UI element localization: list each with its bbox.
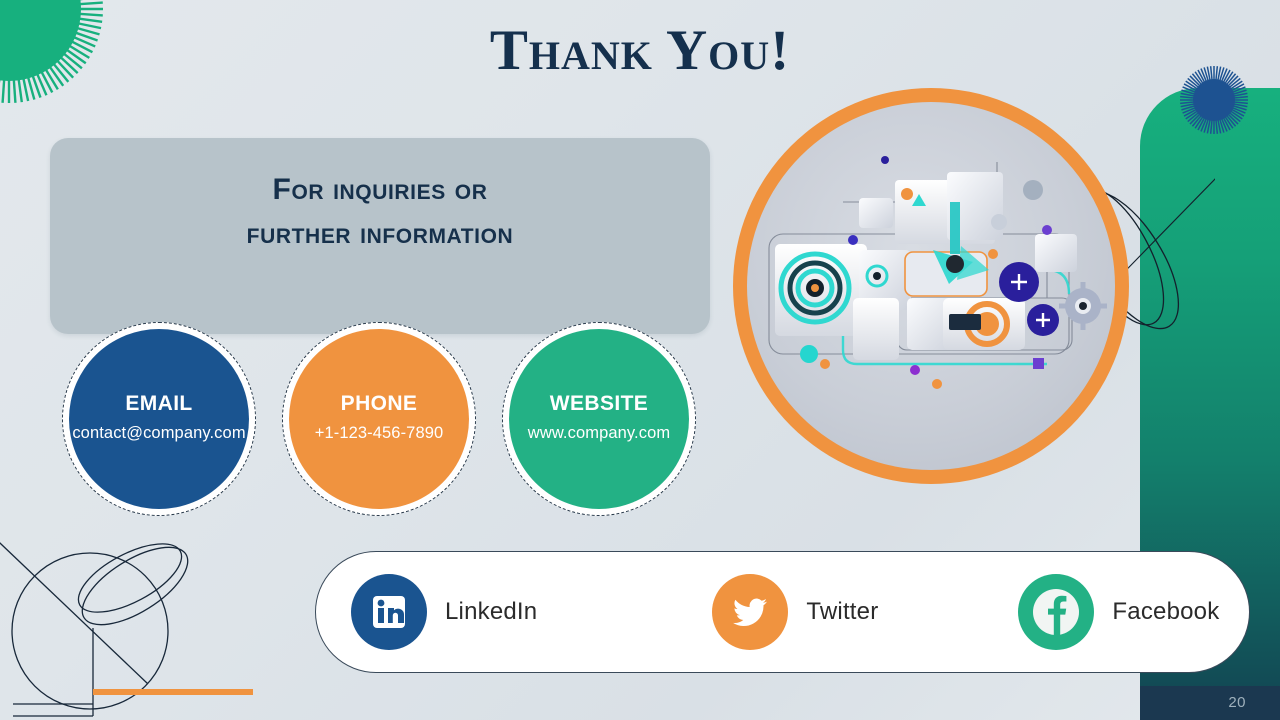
social-link-twitter[interactable]: Twitter (712, 574, 878, 650)
facebook-icon[interactable] (1018, 574, 1094, 650)
inquiry-line-1: For inquiries or (50, 168, 710, 212)
social-label-twitter: Twitter (806, 598, 878, 626)
inquiry-box: For inquiries or further information (50, 138, 710, 334)
footer-bar (1140, 686, 1280, 720)
contact-phone-body: PHONE +1-123-456-7890 (289, 329, 469, 509)
contact-website-value: www.company.com (528, 421, 670, 446)
contact-email-value: contact@company.com (72, 421, 245, 446)
contact-website-body: WEBSITE www.company.com (509, 329, 689, 509)
contact-phone-label: PHONE (341, 392, 418, 416)
social-label-linkedin: LinkedIn (445, 598, 537, 626)
contact-website-label: WEBSITE (550, 392, 648, 416)
slide-root: Thank You! For inquiries or further info… (0, 0, 1280, 720)
social-links-bar: LinkedIn Twitter Facebook (315, 551, 1250, 673)
line-doodle-decoration (0, 516, 270, 720)
contact-circle-website[interactable]: WEBSITE www.company.com (502, 322, 696, 516)
social-link-facebook[interactable]: Facebook (1018, 574, 1219, 650)
page-number: 20 (1228, 694, 1246, 711)
page-title: Thank You! (0, 18, 1280, 83)
linkedin-icon[interactable] (351, 574, 427, 650)
contact-circle-email[interactable]: EMAIL contact@company.com (62, 322, 256, 516)
abstract-tech-illustration (747, 102, 1115, 470)
inquiry-text: For inquiries or further information (50, 168, 710, 256)
contact-email-body: EMAIL contact@company.com (69, 329, 249, 509)
twitter-bird-icon[interactable] (712, 574, 788, 650)
social-label-facebook: Facebook (1112, 598, 1219, 626)
inquiry-line-2: further information (50, 212, 710, 256)
contact-email-label: EMAIL (125, 392, 192, 416)
contact-phone-value: +1-123-456-7890 (315, 421, 444, 446)
social-link-linkedin[interactable]: LinkedIn (351, 574, 537, 650)
illustration-ring (733, 88, 1129, 484)
contact-circle-phone[interactable]: PHONE +1-123-456-7890 (282, 322, 476, 516)
